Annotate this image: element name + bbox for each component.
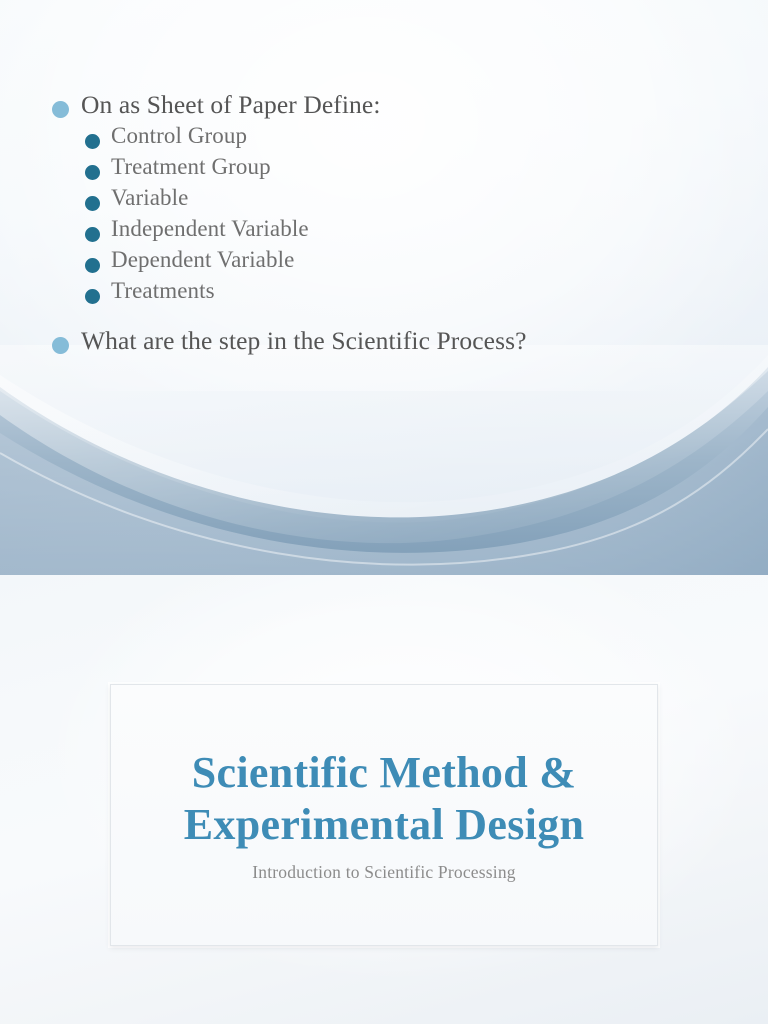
list-item: Independent Variable: [85, 217, 728, 242]
bullet-dot-icon: [52, 101, 69, 118]
bullet-dot-icon: [85, 289, 100, 304]
list-item: What are the step in the Scientific Proc…: [52, 328, 728, 354]
list-item: Dependent Variable: [85, 248, 728, 273]
list-item-label: What are the step in the Scientific Proc…: [81, 328, 527, 354]
title-frame: Scientific Method & Experimental Design …: [110, 684, 658, 946]
page-title-line-2: Experimental Design: [184, 800, 584, 849]
list-item: Variable: [85, 186, 728, 211]
wave-decoration: [0, 345, 768, 575]
list-item: Treatment Group: [85, 155, 728, 180]
list-item-label: Variable: [111, 186, 188, 209]
list-item: Control Group: [85, 124, 728, 149]
list-item-label: Control Group: [111, 124, 247, 147]
bullet-list: On as Sheet of Paper Define: Control Gro…: [0, 0, 768, 360]
list-item-label: Treatment Group: [111, 155, 271, 178]
list-item-label: On as Sheet of Paper Define:: [81, 92, 381, 118]
page-title-line-1: Scientific Method &: [192, 748, 577, 797]
page-title: Scientific Method & Experimental Design: [166, 747, 602, 851]
list-item-label: Dependent Variable: [111, 248, 294, 271]
bullet-dot-icon: [52, 337, 69, 354]
page-subtitle: Introduction to Scientific Processing: [252, 862, 516, 883]
list-item-label: Treatments: [111, 279, 215, 302]
list-item-label: Independent Variable: [111, 217, 309, 240]
list-item: Treatments: [85, 279, 728, 304]
bullet-dot-icon: [85, 134, 100, 149]
slide-bullet-list: On as Sheet of Paper Define: Control Gro…: [0, 0, 768, 575]
bullet-dot-icon: [85, 227, 100, 242]
slide-title-page: Scientific Method & Experimental Design …: [0, 575, 768, 1024]
bullet-dot-icon: [85, 165, 100, 180]
bullet-dot-icon: [85, 196, 100, 211]
list-item: On as Sheet of Paper Define:: [52, 92, 728, 118]
slide-deck-page: On as Sheet of Paper Define: Control Gro…: [0, 0, 768, 1024]
bullet-dot-icon: [85, 258, 100, 273]
